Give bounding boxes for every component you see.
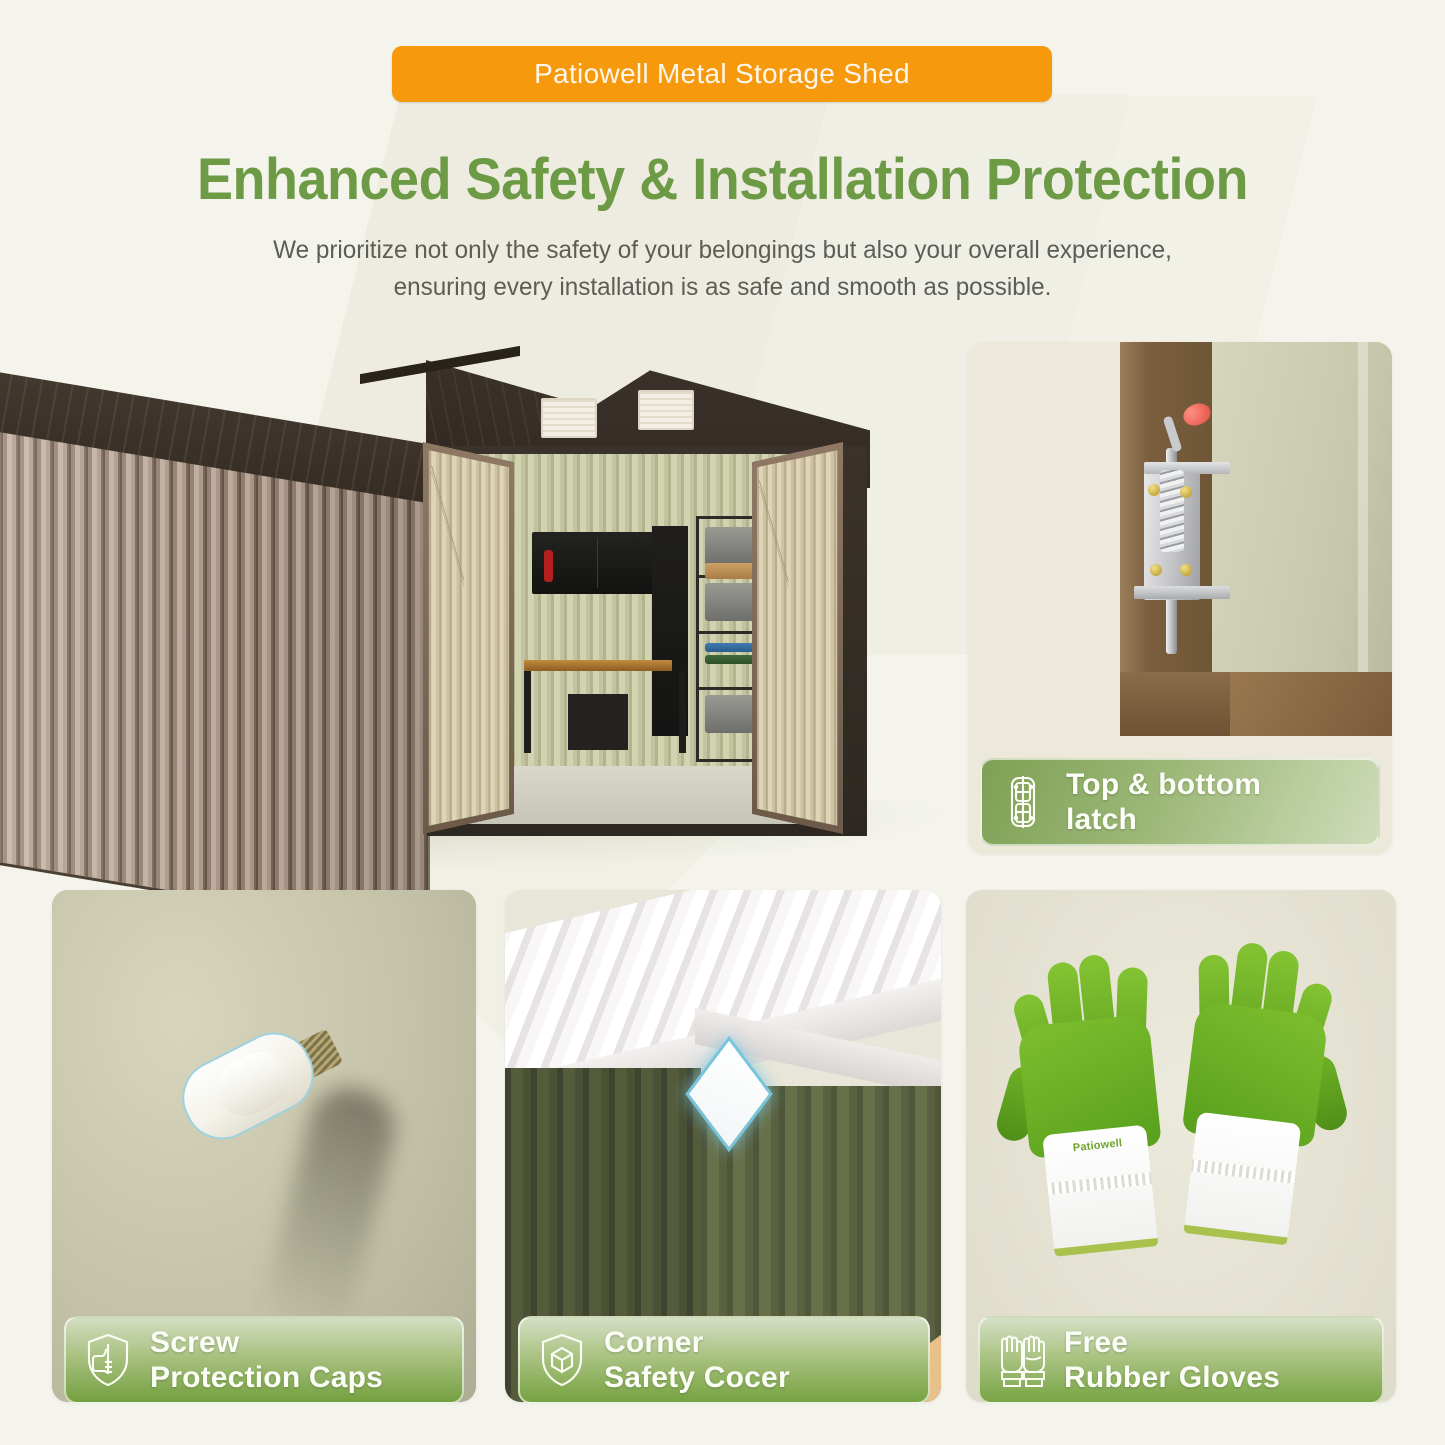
door-brace — [432, 472, 465, 587]
label-line-1: Free — [1064, 1326, 1128, 1359]
feature-label-text: Screw Protection Caps — [150, 1325, 383, 1396]
door-sill — [1120, 672, 1392, 736]
latch-top-tab — [1144, 462, 1230, 474]
latch-spring — [1160, 470, 1184, 552]
label-line-1: Screw — [150, 1326, 239, 1359]
feature-label-text: Free Rubber Gloves — [1064, 1325, 1280, 1396]
workbench-top — [524, 660, 672, 671]
shield-hand-screw-icon — [82, 1332, 134, 1388]
label-line-2: latch — [1066, 803, 1137, 836]
latch-bottom-tab — [1134, 586, 1230, 599]
tool-chest — [568, 694, 628, 750]
page-title: Enhanced Safety & Installation Protectio… — [51, 146, 1395, 213]
label-line-2: Rubber Gloves — [1064, 1361, 1280, 1394]
brand-title-text: Patiowell Metal Storage Shed — [534, 58, 910, 90]
gable-vent-right — [638, 390, 694, 430]
gloves-icon — [996, 1332, 1048, 1388]
label-line-2: Protection Caps — [150, 1361, 383, 1394]
door-brace — [759, 486, 789, 588]
feature-label-text: Top & bottom latch — [1066, 767, 1261, 838]
subtitle-line-2: ensuring every installation is as safe a… — [22, 269, 1424, 306]
brand-title-badge: Patiowell Metal Storage Shed — [392, 46, 1052, 102]
latch-bolt-icon — [998, 774, 1050, 830]
label-line-1: Corner — [604, 1326, 704, 1359]
feature-label-latch: Top & bottom latch — [980, 758, 1380, 846]
feature-label-screw-caps: Screw Protection Caps — [64, 1316, 464, 1404]
latch-screw — [1150, 564, 1162, 576]
red-bottle — [544, 550, 553, 582]
poster-canvas: Patiowell Metal Storage Shed Enhanced Sa… — [0, 0, 1445, 1445]
latch-screw — [1180, 486, 1192, 498]
label-line-2: Safety Cocer — [604, 1361, 790, 1394]
gable-vent-left — [541, 398, 597, 438]
latch-screw — [1180, 564, 1192, 576]
feature-label-text: Corner Safety Cocer — [604, 1325, 790, 1396]
feature-label-corner-cover: Corner Safety Cocer — [518, 1316, 930, 1404]
subtitle-line-1: We prioritize not only the safety of you… — [22, 232, 1424, 269]
page-subtitle: We prioritize not only the safety of you… — [22, 232, 1424, 306]
label-line-1: Top & bottom — [1066, 768, 1261, 801]
shed-door-right — [752, 442, 843, 834]
door-panel-surface — [1212, 342, 1392, 672]
latch-screw — [1148, 484, 1160, 496]
shield-cube-icon — [536, 1332, 588, 1388]
hero-shed-image — [0, 338, 950, 868]
shed-side-wall — [0, 424, 430, 936]
door-brace — [432, 466, 465, 581]
shed-door-left — [423, 442, 514, 834]
door-brace — [759, 480, 789, 581]
feature-label-gloves: Free Rubber Gloves — [978, 1316, 1384, 1404]
